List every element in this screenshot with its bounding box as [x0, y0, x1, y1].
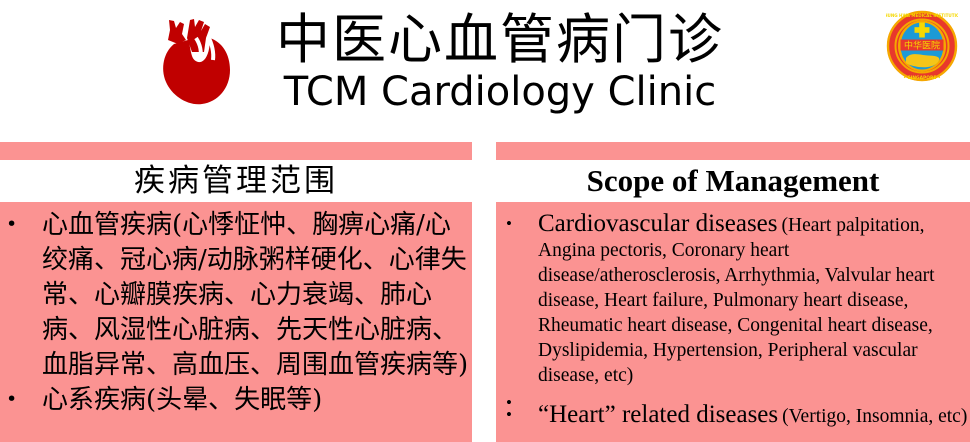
right-column-heading: Scope of Management — [587, 164, 880, 198]
clinic-title-english: TCM Cardiology Clinic — [240, 70, 760, 114]
list-gap — [496, 389, 970, 401]
anatomical-heart-icon — [160, 18, 234, 106]
clinic-title-chinese: 中医心血管病门诊 — [240, 8, 760, 72]
bullet-detail-text: (Vertigo, Insomnia, etc) — [782, 406, 967, 427]
bullet-detail-text: (Heart palpitation, Angina pectoris, Cor… — [538, 215, 935, 386]
left-bullet-list: 心血管疾病(心悸怔忡、胸痹心痛/心绞痛、冠心病/动脉粥样硬化、心律失常、心瓣膜疾… — [0, 208, 472, 418]
left-header-title-wrap: 疾病管理范围 — [0, 160, 472, 202]
left-column-header: 疾病管理范围 — [0, 142, 472, 202]
list-item: “Heart” related diseases (Vertigo, Insom… — [496, 401, 970, 430]
list-item: Cardiovascular diseases (Heart palpitati… — [496, 210, 970, 389]
list-item: 心系疾病(头晕、失眠等) — [0, 383, 472, 418]
page-header: 中医心血管病门诊 TCM Cardiology Clinic 中华医院 CHUN… — [0, 0, 970, 142]
svg-text:• SINGAPORE •: • SINGAPORE • — [903, 75, 941, 81]
bullet-text: 心血管疾病(心悸怔忡、胸痹心痛/心绞痛、冠心病/动脉粥样硬化、心律失常、心瓣膜疾… — [42, 210, 468, 380]
right-header-title-wrap: Scope of Management — [496, 160, 970, 202]
svg-text:CHUNG HWA MEDICAL INSTITUTION: CHUNG HWA MEDICAL INSTITUTION — [886, 13, 958, 18]
list-item: 心血管疾病(心悸怔忡、胸痹心痛/心绞痛、冠心病/动脉粥样硬化、心律失常、心瓣膜疾… — [0, 208, 472, 383]
left-column-body: 心血管疾病(心悸怔忡、胸痹心痛/心绞痛、冠心病/动脉粥样硬化、心律失常、心瓣膜疾… — [0, 202, 472, 442]
header-center-block: 中医心血管病门诊 TCM Cardiology Clinic — [160, 8, 760, 133]
right-bullet-list: Cardiovascular diseases (Heart palpitati… — [496, 210, 970, 430]
bullet-text: 心系疾病(头晕、失眠等) — [42, 385, 322, 415]
right-header-top-bar — [496, 142, 970, 160]
chung-hwa-medical-institution-seal-icon: 中华医院 CHUNG HWA MEDICAL INSTITUTION • SIN… — [886, 10, 958, 82]
left-column-heading: 疾病管理范围 — [134, 164, 338, 198]
left-header-top-bar — [0, 142, 472, 160]
svg-text:中华医院: 中华医院 — [904, 40, 940, 52]
bullet-lead-text: Cardiovascular diseases — [538, 210, 778, 237]
bullet-lead-text: “Heart” related diseases — [538, 401, 778, 428]
right-column-body: Cardiovascular diseases (Heart palpitati… — [496, 202, 970, 442]
right-column-header: Scope of Management — [496, 142, 970, 202]
clinic-title-block: 中医心血管病门诊 TCM Cardiology Clinic — [240, 8, 760, 114]
